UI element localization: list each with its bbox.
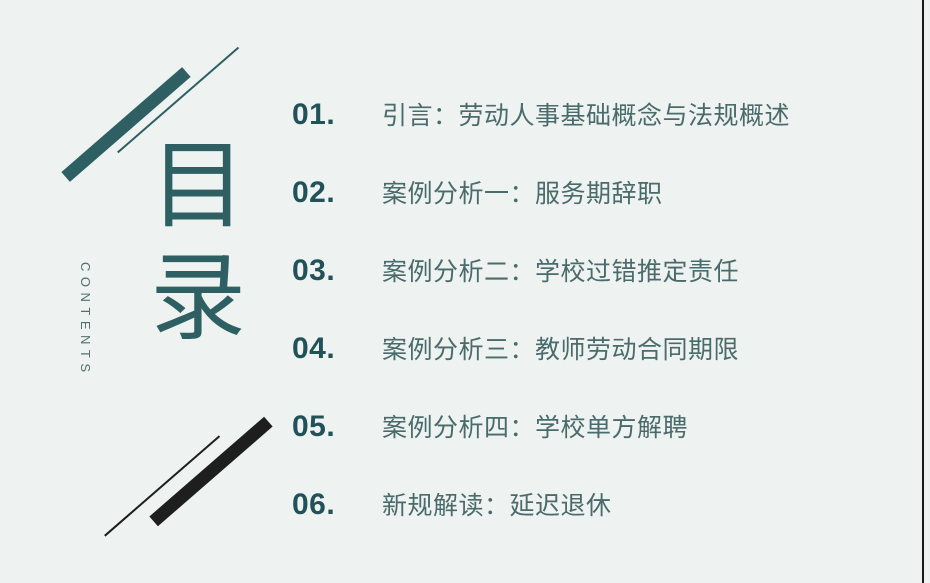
list-item[interactable]: 05. 案例分析四：学校单方解聘 [292,412,892,490]
list-item-number: 06. [292,490,382,520]
list-item-number: 04. [292,334,382,364]
list-item-number: 03. [292,256,382,286]
page-title-char-2: 录 [143,243,253,355]
list-item[interactable]: 04. 案例分析三：教师劳动合同期限 [292,334,892,412]
list-item[interactable]: 01. 引言：劳动人事基础概念与法规概述 [292,100,892,178]
list-item-title: 引言：劳动人事基础概念与法规概述 [382,104,892,129]
list-item-title: 案例分析二：学校过错推定责任 [382,260,892,285]
page-title-char-1: 目 [143,131,253,243]
contents-latin-label: CONTENTS [78,262,93,378]
list-item[interactable]: 06. 新规解读：延迟退休 [292,490,892,568]
contents-list: 01. 引言：劳动人事基础概念与法规概述 02. 案例分析一：服务期辞职 03.… [292,100,892,568]
list-item-title: 案例分析四：学校单方解聘 [382,416,892,441]
list-item-number: 05. [292,412,382,442]
contents-slide: 目 录 CONTENTS 01. 引言：劳动人事基础概念与法规概述 02. 案例… [0,0,930,583]
list-item-title: 案例分析一：服务期辞职 [382,182,892,207]
list-item[interactable]: 02. 案例分析一：服务期辞职 [292,178,892,256]
list-item-title: 新规解读：延迟退休 [382,494,892,519]
list-item-number: 01. [292,100,382,130]
list-item[interactable]: 03. 案例分析二：学校过错推定责任 [292,256,892,334]
list-item-number: 02. [292,178,382,208]
title-block: 目 录 CONTENTS [0,0,282,583]
right-edge-rule [922,0,924,583]
list-item-title: 案例分析三：教师劳动合同期限 [382,338,892,363]
page-title: 目 录 [143,131,253,355]
